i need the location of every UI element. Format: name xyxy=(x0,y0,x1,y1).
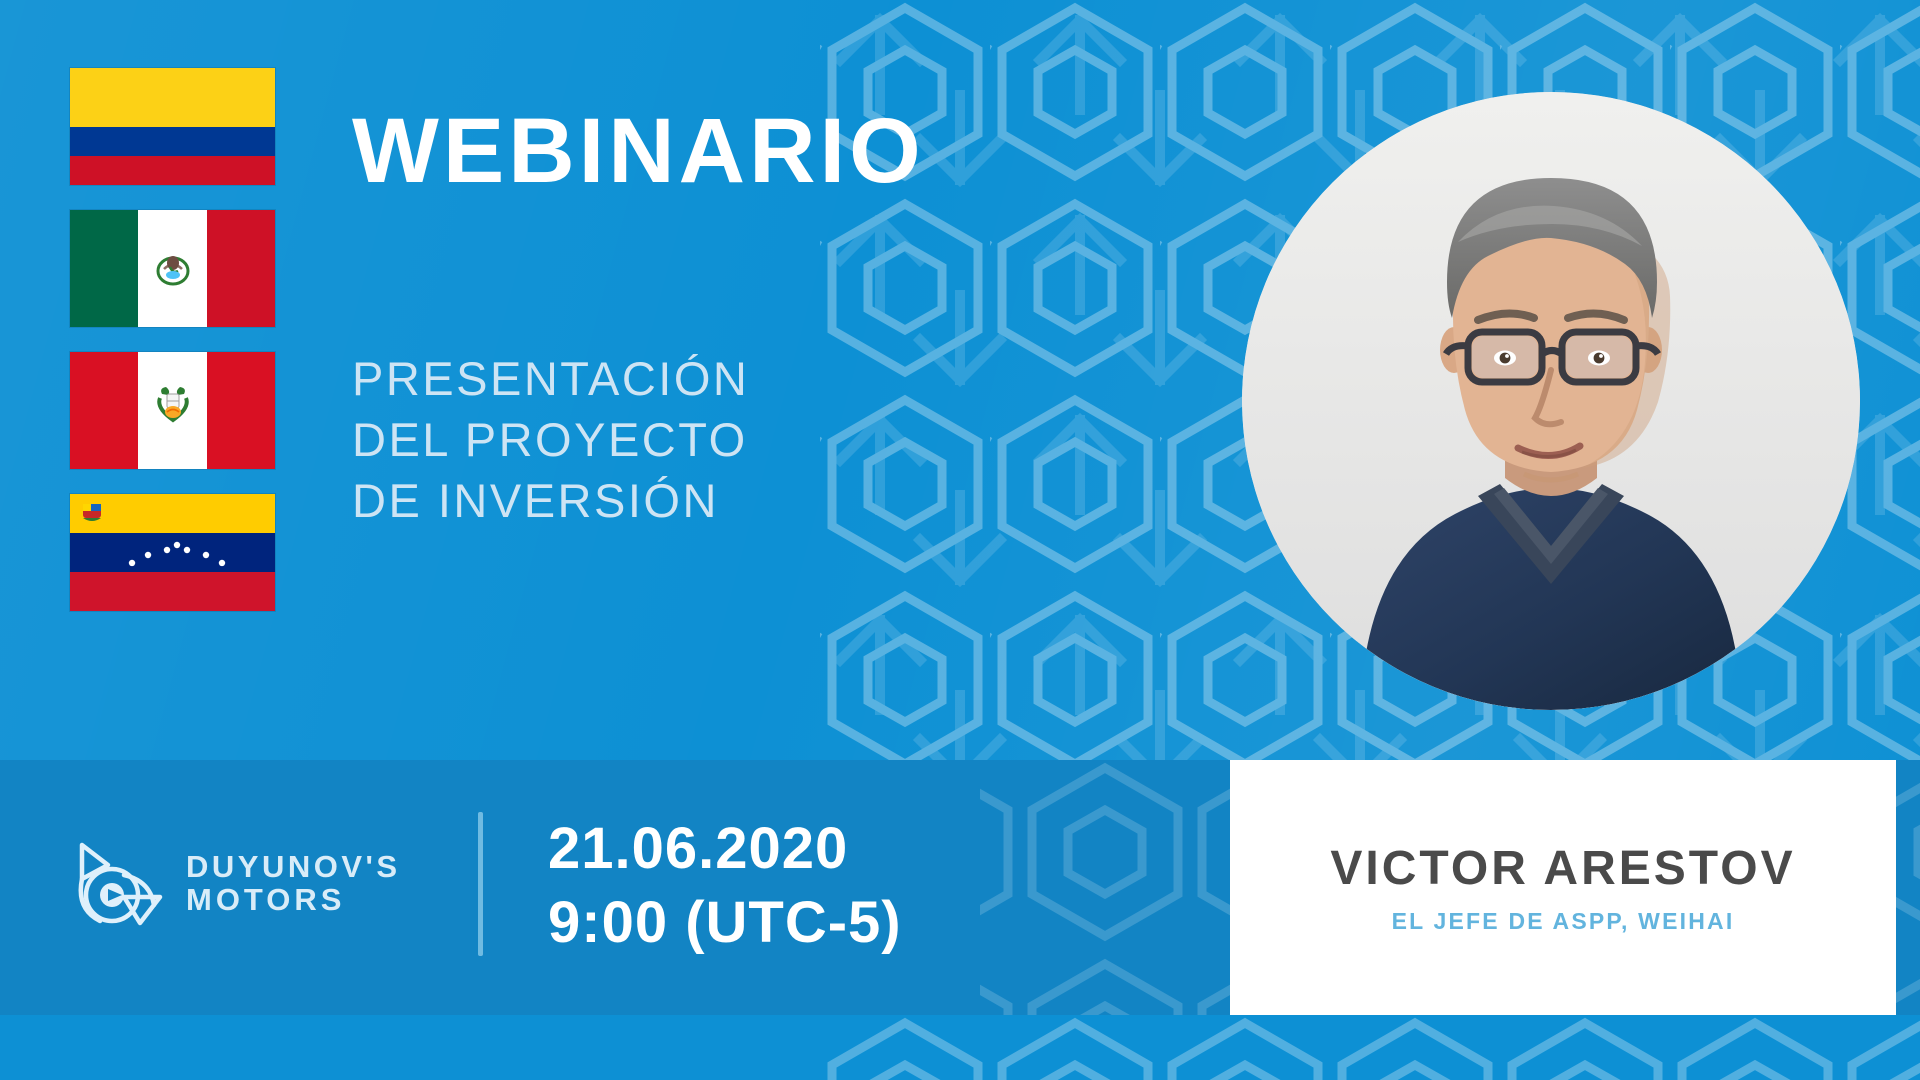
country-flags-group xyxy=(70,68,275,636)
speaker-name: VICTOR ARESTOV xyxy=(1330,841,1795,896)
subtitle-line-3: DE INVERSIÓN xyxy=(352,470,749,531)
subtitle-line-1: PRESENTACIÓN xyxy=(352,348,749,409)
vertical-divider xyxy=(478,812,483,956)
venezuela-flag xyxy=(70,494,275,611)
mexico-flag xyxy=(70,210,275,327)
peru-flag xyxy=(70,352,275,469)
duyunov-arrow-circle-logo-icon xyxy=(68,835,166,933)
bottom-strip xyxy=(0,1015,1920,1080)
brand-logo[interactable]: DUYUNOV'S MOTORS xyxy=(68,835,401,933)
speaker-role: EL JEFE DE ASPP, WEIHAI xyxy=(1392,908,1735,935)
event-time: 9:00 (UTC-5) xyxy=(548,886,902,960)
speaker-info-panel: VICTOR ARESTOV EL JEFE DE ASPP, WEIHAI xyxy=(1230,760,1896,1015)
speaker-portrait-photo xyxy=(1242,92,1860,710)
brand-line-1: DUYUNOV'S xyxy=(186,851,401,884)
webinar-banner: WEBINARIO PRESENTACIÓN DEL PROYECTO DE I… xyxy=(0,0,1920,1080)
event-date: 21.06.2020 xyxy=(548,812,902,886)
brand-wordmark: DUYUNOV'S MOTORS xyxy=(186,851,401,917)
brand-line-2: MOTORS xyxy=(186,884,401,917)
subtitle-block: PRESENTACIÓN DEL PROYECTO DE INVERSIÓN xyxy=(352,348,749,531)
bottom-strip-pattern xyxy=(820,1015,1920,1080)
subtitle-line-2: DEL PROYECTO xyxy=(352,409,749,470)
page-title: WEBINARIO xyxy=(352,105,925,197)
colombia-flag xyxy=(70,68,275,185)
event-datetime: 21.06.2020 9:00 (UTC-5) xyxy=(548,812,902,960)
